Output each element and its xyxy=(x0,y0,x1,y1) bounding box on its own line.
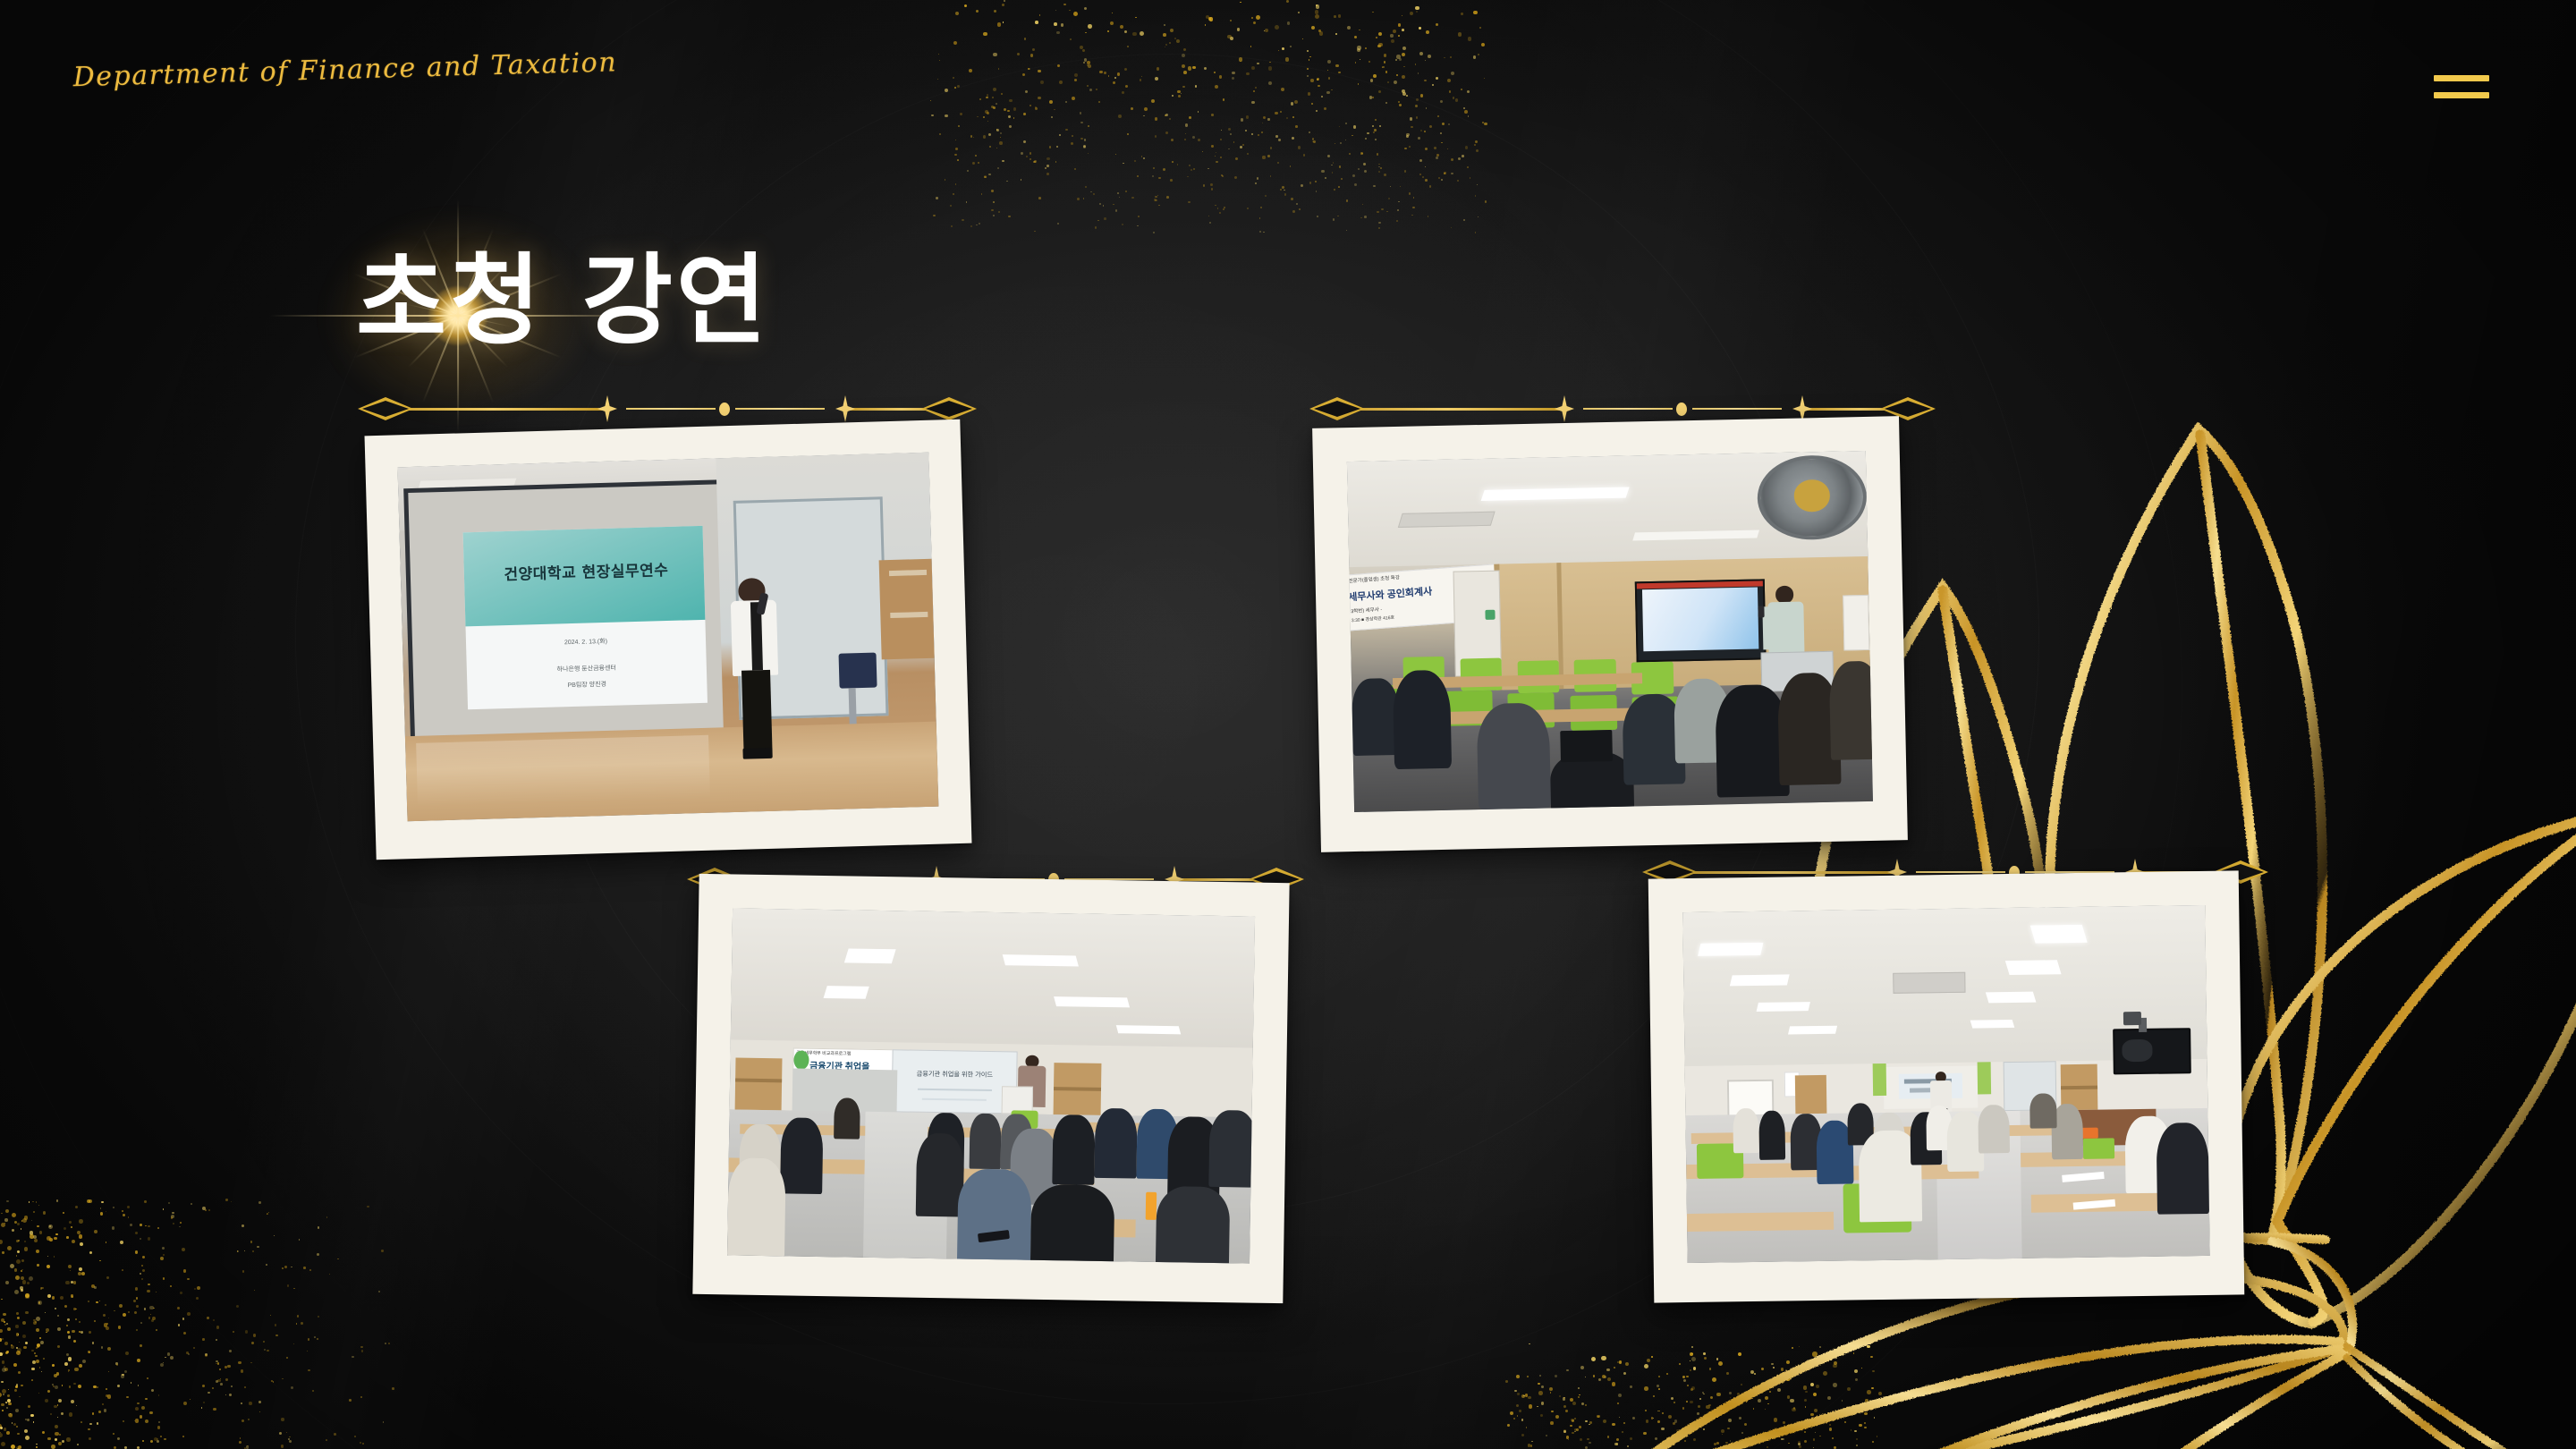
page-title: 초청 강연 xyxy=(356,243,770,360)
photo-card-lecture-cpa-tax[interactable]: 전문가(졸업생) 초청 특강 세무사와 공인회계사 3학번) 세무사 - 3:3… xyxy=(1312,416,1908,852)
slide-speaker: PB팀장 양진경 xyxy=(491,677,682,691)
divider-dot-icon xyxy=(719,402,730,416)
menu-line-1 xyxy=(2434,75,2489,81)
photo-image-lecture-cpa-tax: 전문가(졸업생) 초청 특강 세무사와 공인회계사 3학번) 세무사 - 3:3… xyxy=(1347,451,1873,812)
photo-image-lecture-hana-bank: 건양대학교 현장실무연수 2024. 2. 13.(화) 하나은행 둔산금융센터… xyxy=(398,453,939,821)
photo-card-lecture-classroom[interactable] xyxy=(1648,870,2245,1302)
photo-image-lecture-finance-job: 금융세무학부 비교과프로그램 금융기관 취업을 금융기관 취업을 위한 가이드 xyxy=(727,908,1255,1263)
hamburger-menu-icon[interactable] xyxy=(2434,75,2489,98)
divider-row1-left xyxy=(358,397,977,420)
menu-line-2 xyxy=(2434,92,2489,98)
divider-dot-icon xyxy=(1676,402,1687,416)
slide-heading: 건양대학교 현장실무연수 xyxy=(479,556,695,597)
slide-date: 2024. 2. 13.(화) xyxy=(490,635,682,649)
divider-diamond-icon xyxy=(597,395,617,422)
photo-card-lecture-hana-bank[interactable]: 건양대학교 현장실무연수 2024. 2. 13.(화) 하나은행 둔산금융센터… xyxy=(365,419,972,860)
slide-org: 하나은행 둔산금융센터 xyxy=(491,661,682,675)
photo-image-lecture-classroom xyxy=(1682,905,2209,1263)
divider-diamond-icon xyxy=(1555,395,1574,422)
banner-line-1: 금융세무학부 비교과프로그램 xyxy=(796,1050,905,1058)
divider-diamond-icon xyxy=(835,395,855,422)
slide-heading: 금융기관 취업을 위한 가이드 xyxy=(900,1069,1009,1080)
photo-card-lecture-finance-job[interactable]: 금융세무학부 비교과프로그램 금융기관 취업을 금융기관 취업을 위한 가이드 xyxy=(692,874,1289,1303)
page-title-wrap: 초청 강연 xyxy=(356,243,770,360)
slide-canvas: Department of Finance and Taxation 초청 강연 xyxy=(0,0,2576,1449)
